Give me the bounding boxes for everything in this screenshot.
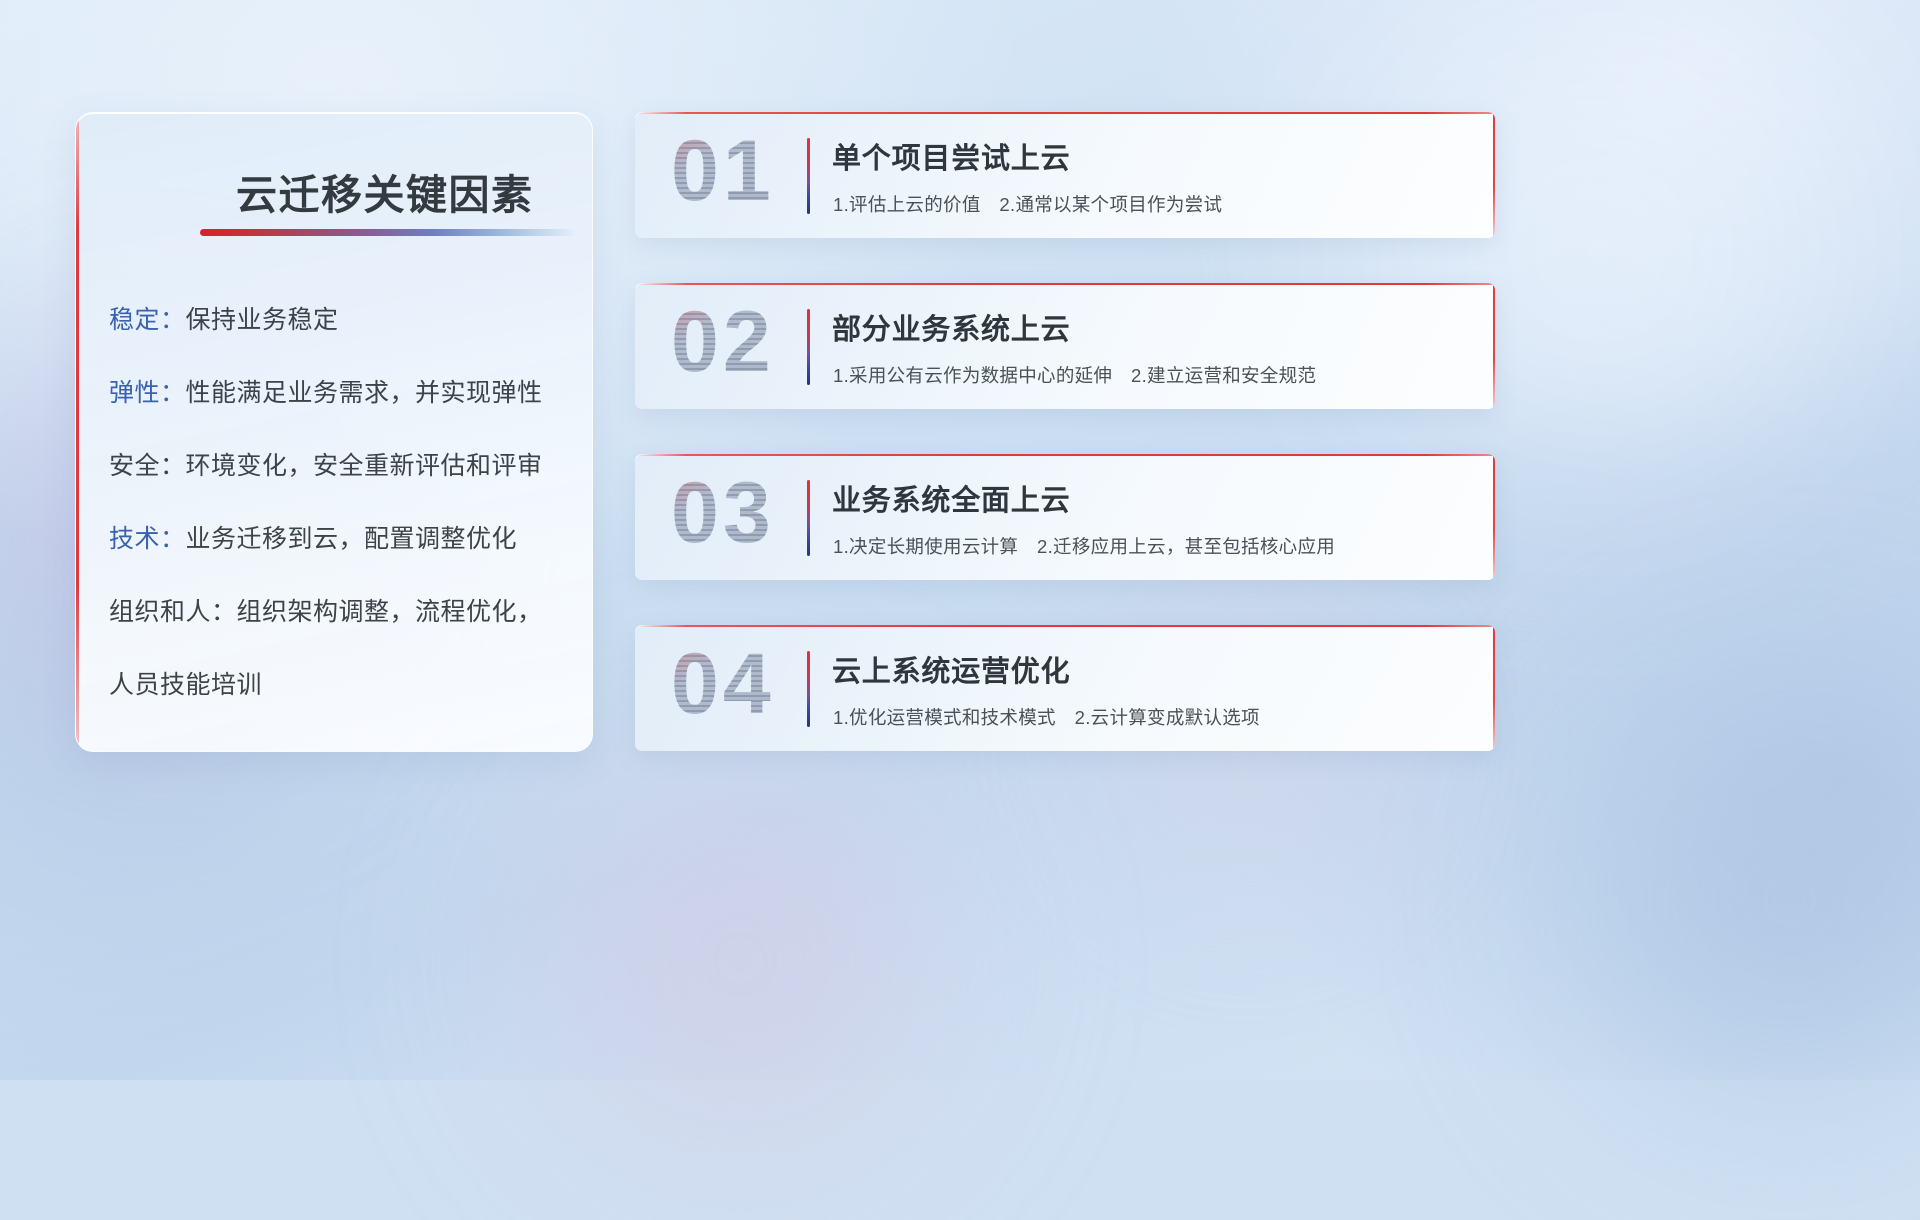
key-factor-row: 弹性：性能满足业务需求，并实现弹性	[109, 381, 572, 406]
stage-description: 1.采用公有云作为数据中心的延伸 2.建立运营和安全规范	[833, 362, 1316, 388]
key-factor-row: 人员技能培训	[109, 673, 572, 698]
key-factor-label: 组织和人：	[109, 598, 237, 626]
stage-card[interactable]: 0101单个项目尝试上云1.评估上云的价值 2.通常以某个项目作为尝试	[635, 112, 1495, 238]
stage-description: 1.评估上云的价值 2.通常以某个项目作为尝试	[833, 191, 1222, 217]
slide-canvas: 云迁移关键因素 稳定：保持业务稳定弹性：性能满足业务需求，并实现弹性安全：环境变…	[0, 0, 1920, 1080]
key-factor-value: 保持业务稳定	[186, 306, 339, 334]
stage-title: 部分业务系统上云	[832, 306, 1070, 348]
stage-number: 03	[671, 464, 775, 563]
key-factors-panel: 云迁移关键因素 稳定：保持业务稳定弹性：性能满足业务需求，并实现弹性安全：环境变…	[75, 112, 593, 752]
stage-number: 02	[671, 293, 775, 392]
stage-card[interactable]: 0303业务系统全面上云1.决定长期使用云计算 2.迁移应用上云，甚至包括核心应…	[635, 454, 1495, 580]
stage-title: 单个项目尝试上云	[832, 135, 1070, 177]
key-factor-value: 组织架构调整，流程优化，	[237, 598, 543, 626]
key-factor-label: 弹性：	[109, 379, 186, 407]
title-underline-rule	[200, 229, 577, 236]
key-factor-row: 技术：业务迁移到云，配置调整优化	[109, 527, 572, 552]
key-factor-row: 组织和人：组织架构调整，流程优化，	[109, 600, 572, 625]
stage-number: 04	[671, 635, 775, 734]
key-factor-value: 人员技能培训	[109, 671, 262, 699]
key-factor-value: 环境变化，安全重新评估和评审	[186, 452, 543, 480]
key-factor-value: 性能满足业务需求，并实现弹性	[186, 379, 543, 407]
key-factor-value: 业务迁移到云，配置调整优化	[186, 525, 518, 553]
migration-stage-cards: 0101单个项目尝试上云1.评估上云的价值 2.通常以某个项目作为尝试0202部…	[635, 112, 1495, 751]
stage-description: 1.优化运营模式和技术模式 2.云计算变成默认选项	[833, 704, 1260, 730]
key-factors-list: 稳定：保持业务稳定弹性：性能满足业务需求，并实现弹性安全：环境变化，安全重新评估…	[109, 308, 572, 698]
stage-description: 1.决定长期使用云计算 2.迁移应用上云，甚至包括核心应用	[833, 533, 1335, 559]
page-title: 云迁移关键因素	[236, 161, 534, 221]
key-factor-label: 安全：	[109, 452, 186, 480]
key-factor-label: 技术：	[109, 525, 186, 553]
stage-card[interactable]: 0404云上系统运营优化1.优化运营模式和技术模式 2.云计算变成默认选项	[635, 625, 1495, 751]
stage-title: 云上系统运营优化	[832, 648, 1070, 690]
key-factor-row: 稳定：保持业务稳定	[109, 308, 572, 333]
stage-accent-bar	[807, 651, 810, 727]
stage-accent-bar	[807, 138, 810, 214]
stage-title: 业务系统全面上云	[832, 477, 1070, 519]
key-factor-label: 稳定：	[109, 306, 186, 334]
stage-accent-bar	[807, 309, 810, 385]
stage-accent-bar	[807, 480, 810, 556]
key-factor-row: 安全：环境变化，安全重新评估和评审	[109, 454, 572, 479]
stage-card[interactable]: 0202部分业务系统上云1.采用公有云作为数据中心的延伸 2.建立运营和安全规范	[635, 283, 1495, 409]
stage-number: 01	[671, 122, 775, 221]
